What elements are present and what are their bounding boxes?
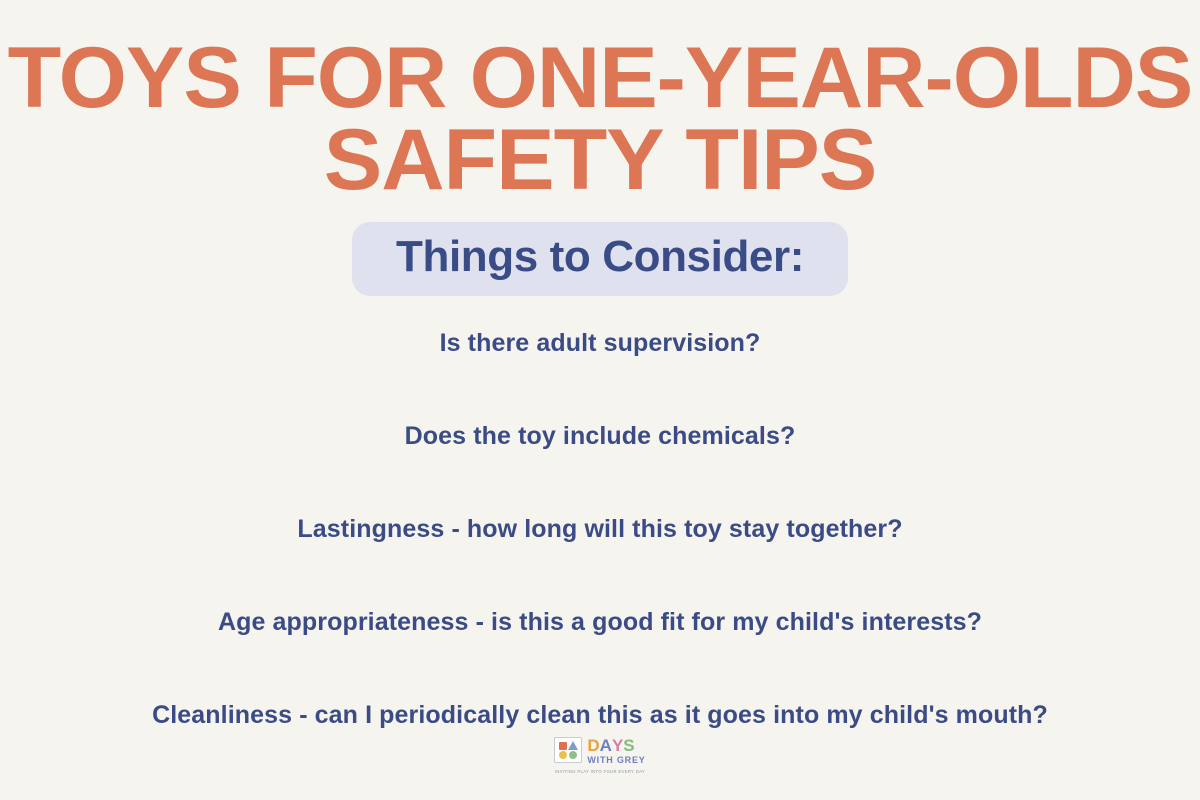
logo-with-grey-word: WITH GREY [587,755,645,767]
logo-letter-a: A [600,737,612,754]
badge-label: Things to Consider: [396,233,804,281]
green-circle-shape-icon [568,751,578,759]
title-line-1: TOYS FOR ONE-YEAR-OLDS [0,38,1200,120]
list-item: Age appropriateness - is this a good fit… [218,607,982,637]
poster-canvas: TOYS FOR ONE-YEAR-OLDS SAFETY TIPS Thing… [0,0,1200,800]
section-heading-container: Things to Consider: [0,222,1200,296]
title-line-2: SAFETY TIPS [0,120,1200,202]
logo-days-word: D A Y S [587,737,645,754]
logo-letter-y: Y [612,737,623,754]
list-item: Cleanliness - can I periodically clean t… [152,700,1048,730]
logo-tagline: INVITING PLAY INTO YOUR EVERY DAY [555,769,645,774]
page-title: TOYS FOR ONE-YEAR-OLDS SAFETY TIPS [0,38,1200,201]
logo-main-row: D A Y S WITH GREY [554,737,645,767]
list-item: Is there adult supervision? [440,328,761,358]
yellow-circle-shape-icon [558,751,567,759]
shapes-grid-icon [554,737,582,763]
considerations-list: Is there adult supervision? Does the toy… [0,328,1200,730]
logo-wordmark: D A Y S WITH GREY [587,737,645,767]
logo-letter-d: D [587,737,599,754]
list-item: Lastingness - how long will this toy sta… [297,514,902,544]
triangle-shape-icon [568,741,578,750]
list-item: Does the toy include chemicals? [405,421,796,451]
square-shape-icon [558,741,567,750]
things-to-consider-badge: Things to Consider: [352,222,848,296]
logo-letter-s: S [623,737,634,754]
brand-logo: D A Y S WITH GREY INVITING PLAY INTO YOU… [535,737,665,774]
